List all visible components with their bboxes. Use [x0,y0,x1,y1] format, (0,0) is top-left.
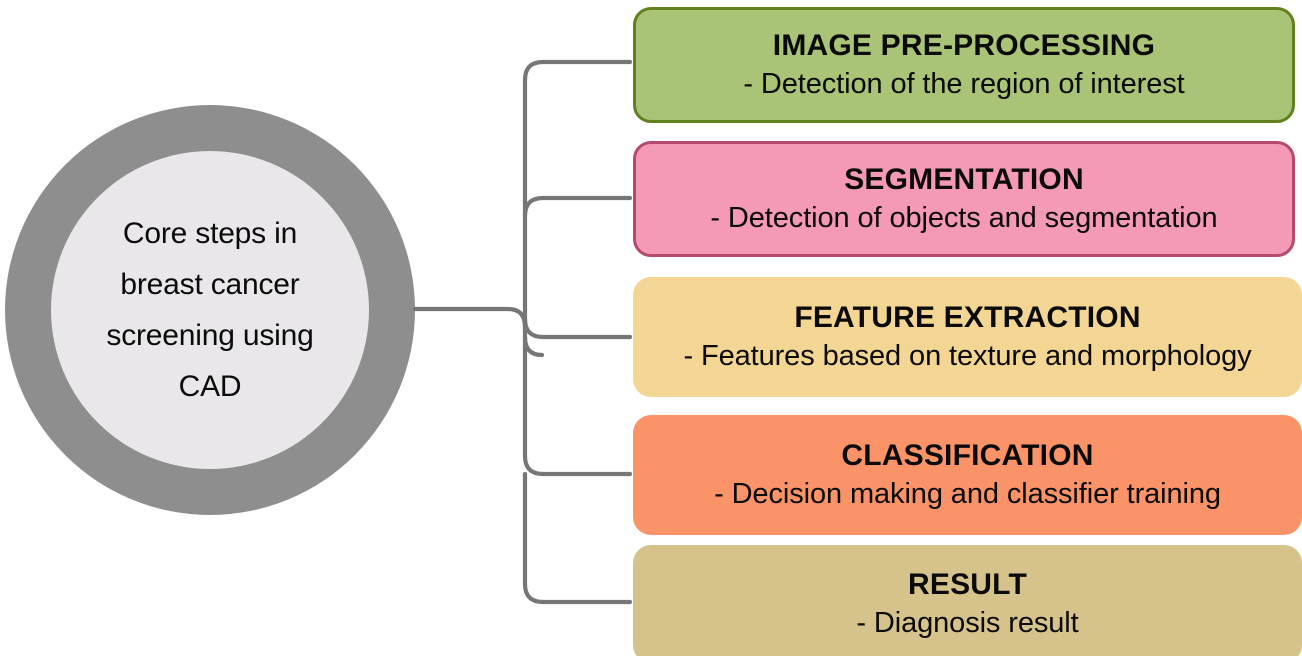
hub-label: Core steps in breast cancer screening us… [106,208,313,412]
step-title: SEGMENTATION [844,161,1084,199]
hub-circle-inner: Core steps in breast cancer screening us… [51,151,369,469]
step-title: CLASSIFICATION [841,437,1093,475]
step-title: FEATURE EXTRACTION [794,299,1140,337]
step-box-classification[interactable]: CLASSIFICATION - Decision making and cla… [633,415,1302,535]
hub-circle: Core steps in breast cancer screening us… [5,105,415,515]
cad-workflow-diagram: Core steps in breast cancer screening us… [0,0,1302,656]
step-subtitle: - Features based on texture and morpholo… [683,337,1251,375]
step-title: RESULT [908,566,1027,604]
step-title: IMAGE PRE-PROCESSING [773,27,1155,65]
connector-branch-4 [525,337,630,474]
step-box-feature-extraction[interactable]: FEATURE EXTRACTION - Features based on t… [633,277,1302,397]
step-box-image-pre-processing[interactable]: IMAGE PRE-PROCESSING - Detection of the … [633,7,1295,123]
step-subtitle: - Detection of the region of interest [743,65,1184,103]
step-subtitle: - Diagnosis result [856,604,1078,642]
connector-branch-1 [525,62,630,327]
connector-branch-3 [525,319,630,337]
step-box-result[interactable]: RESULT - Diagnosis result [633,545,1302,656]
step-box-segmentation[interactable]: SEGMENTATION - Detection of objects and … [633,141,1295,257]
connector-branch-2 [525,198,630,216]
connector-branch-5 [525,474,630,602]
step-subtitle: - Detection of objects and segmentation [710,199,1217,237]
connector-stem [415,309,542,355]
step-subtitle: - Decision making and classifier trainin… [714,475,1221,513]
